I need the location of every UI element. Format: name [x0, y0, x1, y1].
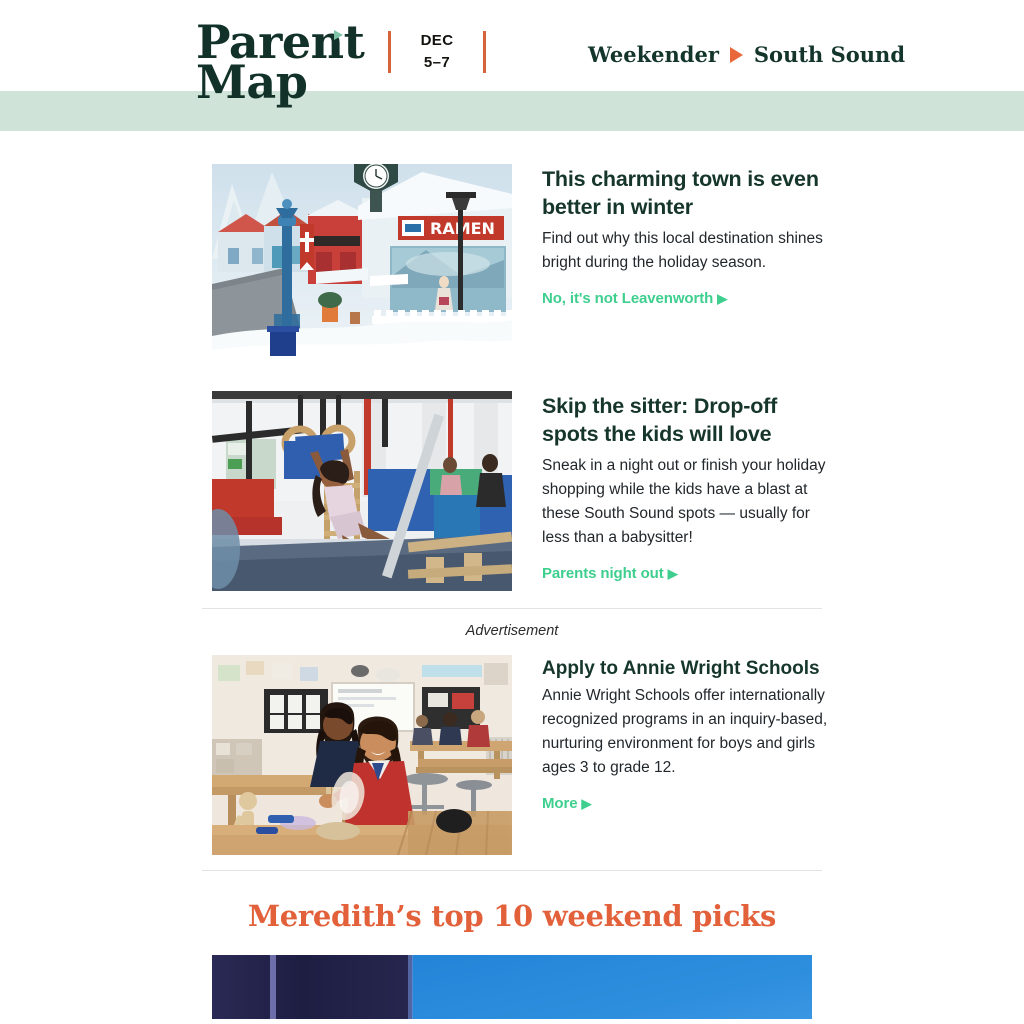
- story-cta-link[interactable]: No, it's not Leavenworth ▶: [542, 290, 727, 307]
- advertisement-cta-label: More: [542, 795, 577, 812]
- page-header: Parent Map DEC 5–7 Weekender South Sound: [0, 0, 1024, 91]
- email-newsletter-page: Parent Map DEC 5–7 Weekender South Sound: [0, 0, 1024, 1024]
- story-item[interactable]: Skip the sitter: Drop-off spots the kids…: [0, 391, 1024, 591]
- edition-secondary-label: South Sound: [754, 42, 905, 67]
- story-item[interactable]: RAMEN: [0, 164, 1024, 364]
- snowy-town-street-photo[interactable]: RAMEN: [212, 164, 512, 364]
- issue-date: DEC 5–7: [413, 30, 461, 74]
- advertisement-item[interactable]: Apply to Annie Wright Schools Annie Wrig…: [0, 655, 1024, 855]
- story-title: Skip the sitter: Drop-off spots the kids…: [542, 393, 828, 449]
- edition-primary-label: Weekender: [588, 42, 719, 67]
- story-description: Find out why this local destination shin…: [542, 227, 828, 275]
- parentmap-logo[interactable]: Parent Map: [196, 22, 356, 103]
- picks-section-heading: Meredith’s top 10 weekend picks: [0, 871, 1024, 955]
- edition-title: Weekender South Sound: [588, 42, 905, 67]
- advertisement-cta-link[interactable]: More ▶: [542, 795, 591, 812]
- advertisement-title: Apply to Annie Wright Schools: [542, 657, 828, 682]
- issue-date-block: DEC 5–7: [388, 30, 486, 74]
- story-cta-label: Parents night out: [542, 565, 664, 582]
- arrow-right-icon: ▶: [582, 796, 592, 811]
- triangle-accent-icon: [334, 30, 343, 40]
- story-text: Skip the sitter: Drop-off spots the kids…: [542, 391, 828, 591]
- story-cta-label: No, it's not Leavenworth: [542, 290, 713, 307]
- divider-bar-left: [388, 31, 391, 73]
- arrow-right-icon: ▶: [717, 291, 727, 306]
- issue-day-range: 5–7: [413, 52, 461, 74]
- blue-sky-hero-photo[interactable]: [212, 955, 812, 1019]
- spacer: [0, 364, 1024, 391]
- triangle-right-icon: [730, 47, 743, 63]
- mint-accent-band: [0, 91, 1024, 131]
- gymnastics-gym-photo[interactable]: [212, 391, 512, 591]
- story-cta-link[interactable]: Parents night out ▶: [542, 565, 678, 582]
- advertisement-description: Annie Wright Schools offer international…: [542, 684, 828, 780]
- story-description: Sneak in a night out or finish your holi…: [542, 454, 828, 550]
- story-text: This charming town is even better in win…: [542, 164, 828, 364]
- story-title: This charming town is even better in win…: [542, 166, 828, 222]
- issue-month: DEC: [413, 30, 461, 52]
- divider-bar-right: [483, 31, 486, 73]
- spacer: [0, 591, 1024, 608]
- arrow-right-icon: ▶: [668, 566, 678, 581]
- logo-wordmark: Parent Map: [196, 22, 356, 103]
- advertisement-label: Advertisement: [0, 609, 1024, 655]
- main-content: RAMEN: [0, 131, 1024, 1019]
- spacer: [0, 855, 1024, 870]
- advertisement-text: Apply to Annie Wright Schools Annie Wrig…: [542, 655, 828, 855]
- classroom-art-studio-photo[interactable]: [212, 655, 512, 855]
